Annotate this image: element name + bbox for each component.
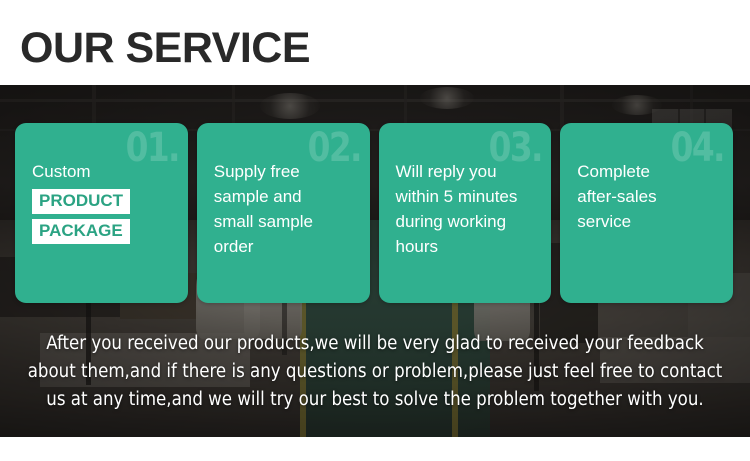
service-card-list: 01. Custom PRODUCT PACKAGE 02. Supply fr… xyxy=(15,123,733,303)
bottom-white-strip xyxy=(0,437,750,461)
service-banner: OUR SERVICE xyxy=(0,0,750,461)
service-card-4[interactable]: 04. Complete after-sales service xyxy=(560,123,733,303)
card-line: order xyxy=(214,234,358,259)
card-line: during working xyxy=(396,209,540,234)
service-card-1[interactable]: 01. Custom PRODUCT PACKAGE xyxy=(15,123,188,303)
footer-line-2: about them,and if there is any questions… xyxy=(16,358,734,386)
card-text-3: Will reply you within 5 minutes during w… xyxy=(396,159,540,259)
card-line: within 5 minutes xyxy=(396,184,540,209)
card-text-2: Supply free sample and small sample orde… xyxy=(214,159,358,259)
card-line: sample and xyxy=(214,184,358,209)
card-text-4: Complete after-sales service xyxy=(577,159,721,234)
card-line: Complete xyxy=(577,159,721,184)
footer-line-3: us at any time,and we will try our best … xyxy=(16,386,734,414)
footer-paragraph: After you received our products,we will … xyxy=(16,330,734,414)
footer-line-1: After you received our products,we will … xyxy=(16,330,734,358)
card-line: after-sales xyxy=(577,184,721,209)
card-line: small sample xyxy=(214,209,358,234)
header-bar: OUR SERVICE xyxy=(0,0,750,85)
page-title: OUR SERVICE xyxy=(20,24,310,72)
card-highlight-product: PRODUCT xyxy=(32,189,130,214)
card-line: Will reply you xyxy=(396,159,540,184)
card-text-1: Custom PRODUCT PACKAGE xyxy=(32,159,176,244)
service-card-2[interactable]: 02. Supply free sample and small sample … xyxy=(197,123,370,303)
card-line: hours xyxy=(396,234,540,259)
card-line: Custom xyxy=(32,159,176,184)
card-highlight-package: PACKAGE xyxy=(32,219,130,244)
service-card-3[interactable]: 03. Will reply you within 5 minutes duri… xyxy=(379,123,552,303)
card-line: Supply free xyxy=(214,159,358,184)
card-line: service xyxy=(577,209,721,234)
